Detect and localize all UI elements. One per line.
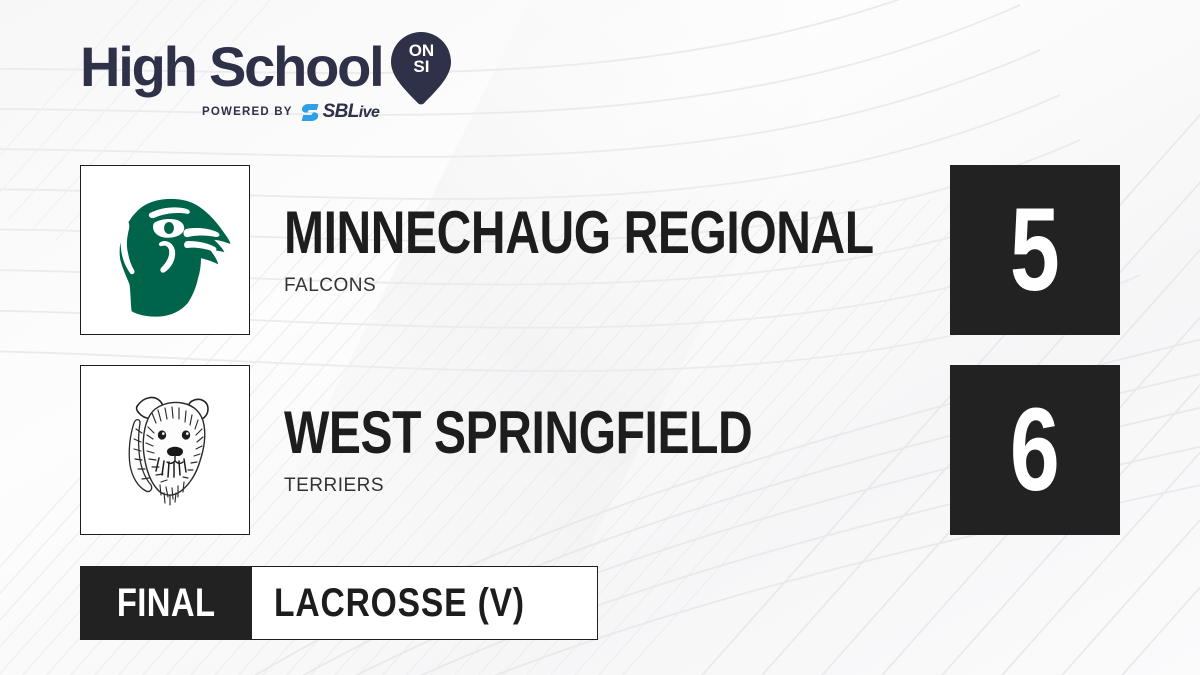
team-info: MINNECHAUG REGIONAL FALCONS <box>284 165 1021 335</box>
team-mascot: FALCONS <box>284 275 1021 297</box>
team-logo-box <box>80 165 250 335</box>
onsi-pin-icon: ON SI <box>390 31 452 105</box>
team-logo-box <box>80 365 250 535</box>
team-score: 6 <box>1010 391 1060 509</box>
sblive-wordmark: SBLive <box>323 102 380 122</box>
status-badge: FINAL <box>80 566 252 640</box>
team-score-box: 5 <box>950 165 1120 335</box>
team-info: WEST SPRINGFIELD TERRIERS <box>284 365 869 535</box>
sport-label: LACROSSE (V) <box>274 583 525 623</box>
sblive-logo: SBLive <box>301 102 380 122</box>
terrier-head-icon <box>90 375 240 525</box>
game-status-bar: FINAL LACROSSE (V) <box>80 566 598 640</box>
brand-title: High School <box>80 39 382 95</box>
powered-by-row: POWERED BY SBLive <box>202 102 510 122</box>
team-mascot: TERRIERS <box>284 475 869 497</box>
sblive-s-mark-icon <box>301 103 321 122</box>
team-row: WEST SPRINGFIELD TERRIERS 6 <box>0 365 1200 535</box>
powered-by-label: POWERED BY <box>202 106 293 118</box>
team-score-box: 6 <box>950 365 1120 535</box>
team-row: MINNECHAUG REGIONAL FALCONS 5 <box>0 165 1200 335</box>
team-name: MINNECHAUG REGIONAL <box>284 203 874 263</box>
brand-header: High School ON SI POWERED BY SBLive <box>80 36 510 136</box>
team-score: 5 <box>1010 191 1060 309</box>
sport-label-box: LACROSSE (V) <box>252 566 598 640</box>
falcon-head-icon <box>90 175 240 325</box>
onsi-line2: SI <box>390 59 452 75</box>
status-badge-label: FINAL <box>117 583 216 623</box>
team-name: WEST SPRINGFIELD <box>284 403 752 463</box>
